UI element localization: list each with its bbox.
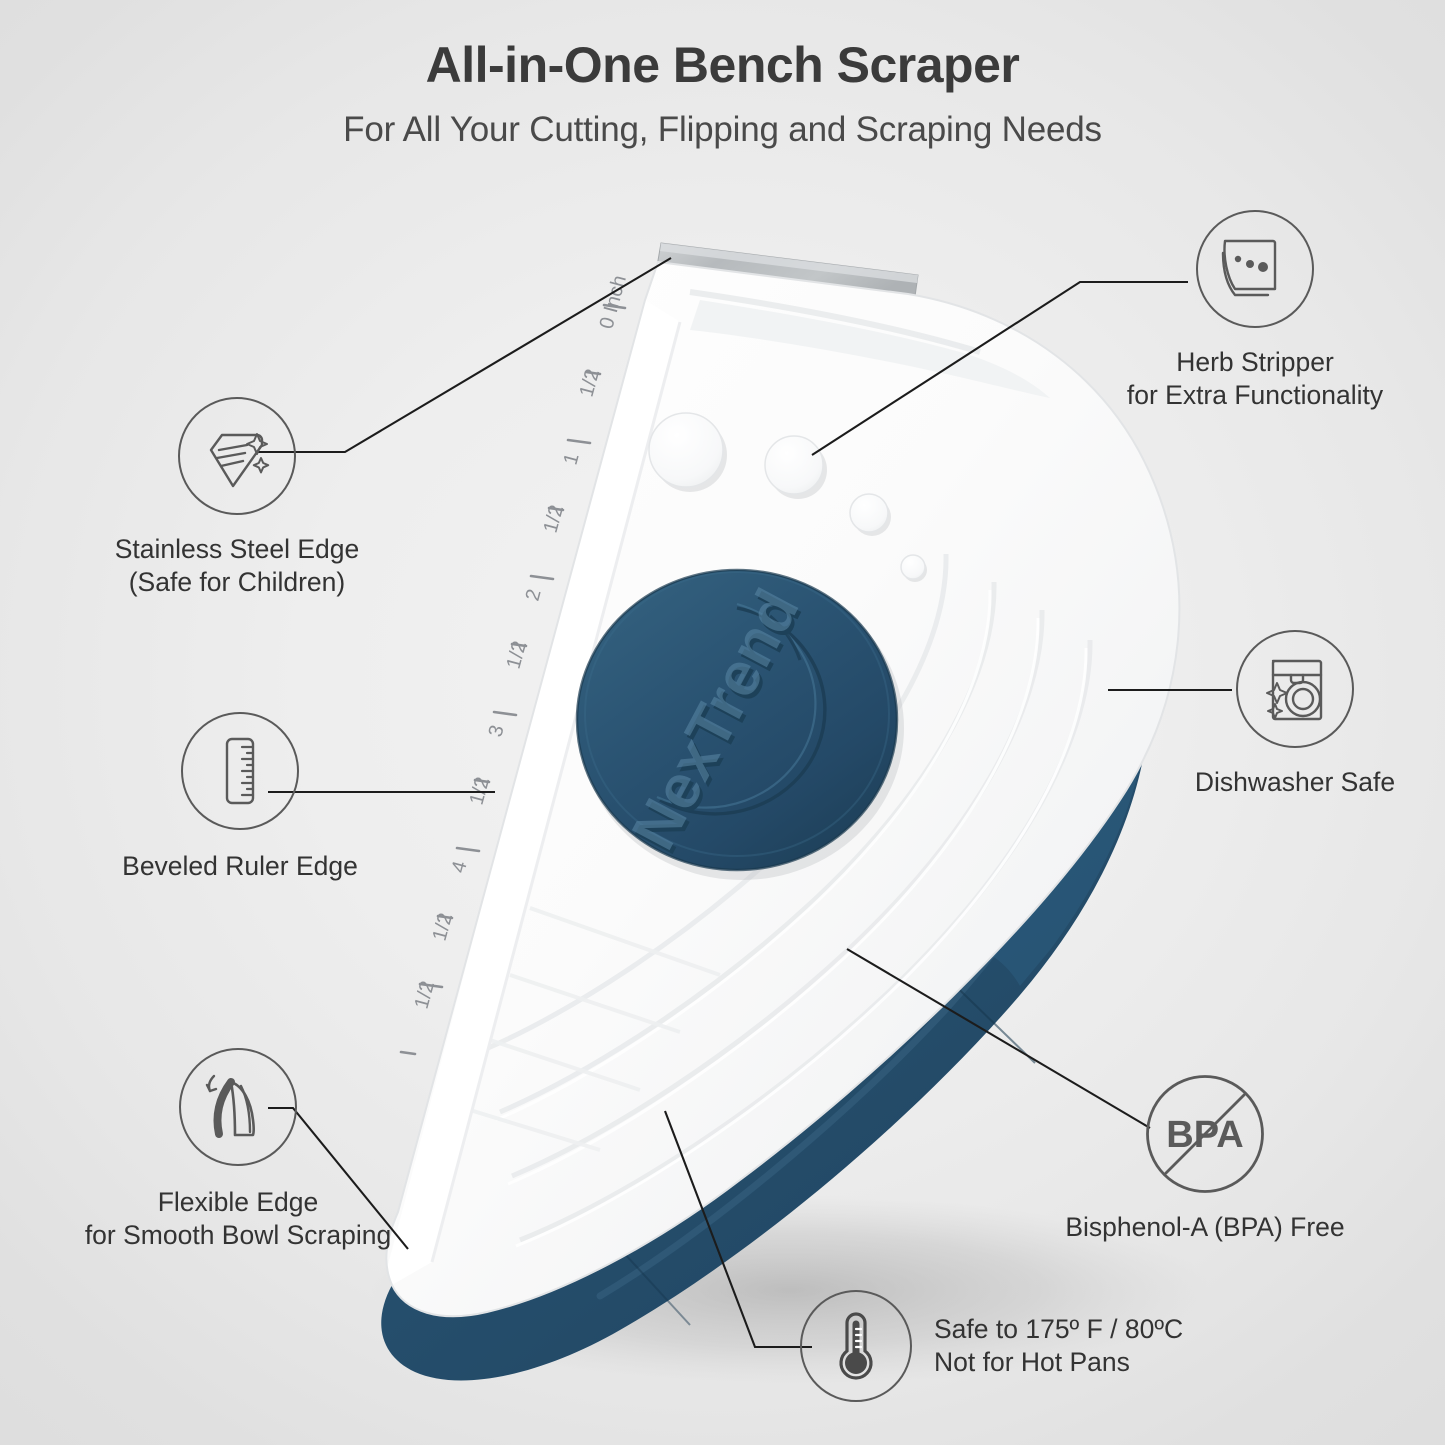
flex-blade-icon bbox=[179, 1048, 297, 1166]
callout-label-herb-stripper: Herb Stripper for Extra Functionality bbox=[1090, 346, 1420, 412]
callout-label-dishwasher-safe: Dishwasher Safe bbox=[1160, 766, 1430, 799]
callout-flexible-edge: Flexible Edge for Smooth Bowl Scraping bbox=[28, 1048, 448, 1252]
herb-stripper-icon bbox=[1196, 210, 1314, 328]
bpa-free-icon: BPA bbox=[1146, 1075, 1264, 1193]
callout-herb-stripper: Herb Stripper for Extra Functionality bbox=[1090, 210, 1420, 412]
ruler-icon bbox=[181, 712, 299, 830]
callout-beveled-ruler: Beveled Ruler Edge bbox=[60, 712, 420, 883]
callout-label-temperature: Safe to 175º F / 80ºC Not for Hot Pans bbox=[934, 1313, 1183, 1379]
callout-bpa-free: BPA Bisphenol-A (BPA) Free bbox=[1040, 1075, 1370, 1244]
leader-temp bbox=[665, 1111, 812, 1347]
callout-temperature: Safe to 175º F / 80ºC Not for Hot Pans bbox=[800, 1290, 1220, 1402]
dishwasher-icon bbox=[1236, 630, 1354, 748]
callout-label-beveled-ruler: Beveled Ruler Edge bbox=[60, 850, 420, 883]
callout-label-flexible-edge: Flexible Edge for Smooth Bowl Scraping bbox=[28, 1186, 448, 1252]
infographic-canvas: All-in-One Bench Scraper For All Your Cu… bbox=[0, 0, 1445, 1445]
thermometer-icon bbox=[800, 1290, 912, 1402]
callout-stainless-steel: Stainless Steel Edge (Safe for Children) bbox=[37, 397, 437, 599]
svg-text:BPA: BPA bbox=[1166, 1114, 1243, 1156]
callout-dishwasher-safe: Dishwasher Safe bbox=[1160, 630, 1430, 799]
callout-label-stainless-steel: Stainless Steel Edge (Safe for Children) bbox=[37, 533, 437, 599]
callout-label-bpa-free: Bisphenol-A (BPA) Free bbox=[1040, 1211, 1370, 1244]
blade-shine-icon bbox=[178, 397, 296, 515]
